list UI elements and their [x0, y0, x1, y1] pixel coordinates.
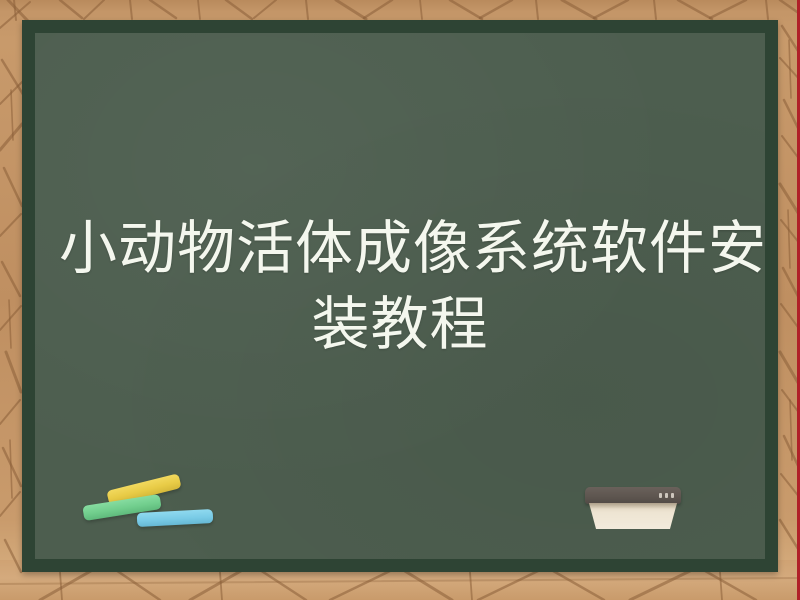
- title-line-1: 小动物活体成像系统软件安: [59, 211, 741, 287]
- title-line-2: 装教程: [59, 287, 741, 363]
- eraser-dot: [671, 493, 674, 498]
- chalk-blue-icon: [137, 509, 214, 527]
- slide-canvas: 小动物活体成像系统软件安 装教程: [0, 0, 800, 600]
- blackboard-surface: 小动物活体成像系统软件安 装教程: [35, 33, 765, 559]
- eraser-dot: [665, 493, 668, 498]
- eraser-handle: [585, 487, 681, 504]
- board-eraser-icon: [585, 487, 681, 531]
- blackboard-frame: 小动物活体成像系统软件安 装教程: [22, 20, 778, 572]
- slide-title: 小动物活体成像系统软件安 装教程: [35, 211, 765, 363]
- chalk-sticks: [81, 467, 221, 537]
- eraser-dots: [659, 493, 674, 498]
- eraser-dot: [659, 493, 662, 498]
- eraser-felt-shadow: [589, 503, 677, 509]
